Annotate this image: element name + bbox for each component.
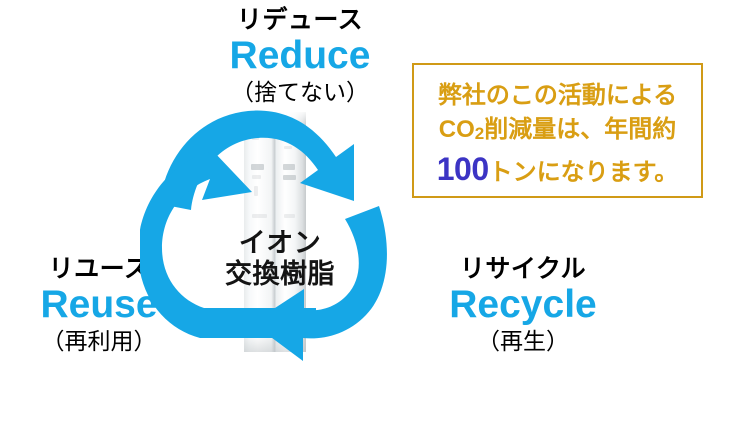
callout-tonnage-unit: トンになります。 <box>489 159 679 186</box>
label-recycle: リサイクル Recycle （再生） <box>398 255 648 355</box>
center-caption-line1: イオン <box>196 228 364 259</box>
callout-text: 弊社のこの活動による CO2削減量は、年間約 100トンになります。 <box>414 79 701 193</box>
center-caption: イオン 交換樹脂 <box>196 228 364 291</box>
label-recycle-kana: リサイクル <box>398 255 648 283</box>
label-reduce-kana: リデュース <box>170 6 430 34</box>
label-reduce: リデュース Reduce （捨てない） <box>170 6 430 106</box>
callout-line-2-rest: 削減量は、年間約 <box>484 116 676 143</box>
label-recycle-english: Recycle <box>398 283 648 328</box>
label-recycle-sub: （再生） <box>398 328 648 356</box>
callout-co2-label: CO <box>439 116 475 143</box>
center-caption-line2: 交換樹脂 <box>196 259 364 290</box>
label-reduce-english: Reduce <box>170 34 430 79</box>
callout-co2-subscript: 2 <box>475 124 484 143</box>
callout-tonnage-number: 100 <box>437 151 489 187</box>
callout-line-2: CO2削減量は、年間約 <box>414 113 701 147</box>
co2-reduction-callout-box: 弊社のこの活動による CO2削減量は、年間約 100トンになります。 <box>412 63 703 198</box>
callout-line-1: 弊社のこの活動による <box>414 79 701 113</box>
callout-line-3: 100トンになります。 <box>414 147 701 192</box>
infographic-canvas: リデュース Reduce （捨てない） リユース Reuse （再利用） リサイ… <box>0 0 748 428</box>
